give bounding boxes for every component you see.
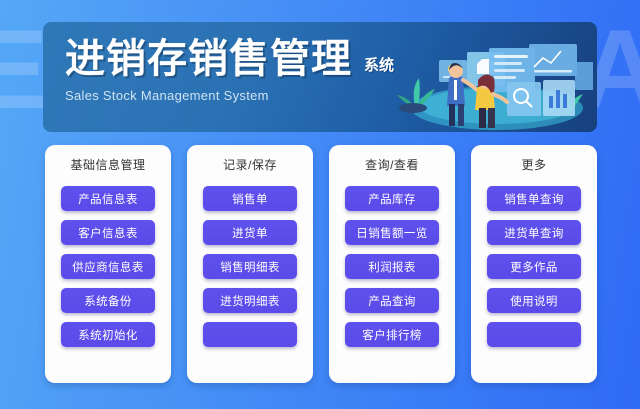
menu-button-more-works[interactable]: 更多作品	[487, 254, 581, 279]
card-title: 查询/查看	[365, 156, 419, 173]
menu-button-supplier-info[interactable]: 供应商信息表	[61, 254, 155, 279]
menu-button-instructions[interactable]: 使用说明	[487, 288, 581, 313]
menu-button-system-init[interactable]: 系统初始化	[61, 322, 155, 347]
menu-button-system-backup[interactable]: 系统备份	[61, 288, 155, 313]
menu-button-sales-order[interactable]: 销售单	[203, 186, 297, 211]
menu-card-grid: 基础信息管理 产品信息表 客户信息表 供应商信息表 系统备份 系统初始化 记录/…	[45, 145, 597, 383]
menu-button-product-info[interactable]: 产品信息表	[61, 186, 155, 211]
menu-button-sales-order-query[interactable]: 销售单查询	[487, 186, 581, 211]
page-title-suffix: 系统	[364, 54, 394, 80]
header-illustration	[393, 22, 593, 132]
menu-button-purchase-order[interactable]: 进货单	[203, 220, 297, 245]
menu-button-empty-record[interactable]	[203, 322, 297, 347]
card-basic-info: 基础信息管理 产品信息表 客户信息表 供应商信息表 系统备份 系统初始化	[45, 145, 171, 383]
header-banner: 进销存销售管理 系统 Sales Stock Management System	[43, 22, 597, 132]
menu-button-purchase-detail[interactable]: 进货明细表	[203, 288, 297, 313]
card-query-view: 查询/查看 产品库存 日销售额一览 利润报表 产品查询 客户排行榜	[329, 145, 455, 383]
card-title: 记录/保存	[223, 156, 277, 173]
menu-button-customer-info[interactable]: 客户信息表	[61, 220, 155, 245]
menu-button-purchase-order-query[interactable]: 进货单查询	[487, 220, 581, 245]
card-more: 更多 销售单查询 进货单查询 更多作品 使用说明	[471, 145, 597, 383]
card-title: 基础信息管理	[70, 156, 145, 173]
header-text-block: 进销存销售管理 系统 Sales Stock Management System	[65, 38, 394, 103]
page-title: 进销存销售管理	[65, 38, 352, 80]
page-subtitle: Sales Stock Management System	[65, 88, 394, 103]
menu-button-product-stock[interactable]: 产品库存	[345, 186, 439, 211]
menu-button-empty-more[interactable]	[487, 322, 581, 347]
menu-button-product-query[interactable]: 产品查询	[345, 288, 439, 313]
menu-button-customer-ranking[interactable]: 客户排行榜	[345, 322, 439, 347]
card-title: 更多	[521, 156, 546, 173]
card-record-save: 记录/保存 销售单 进货单 销售明细表 进货明细表	[187, 145, 313, 383]
menu-button-daily-sales[interactable]: 日销售额一览	[345, 220, 439, 245]
menu-button-sales-detail[interactable]: 销售明细表	[203, 254, 297, 279]
menu-button-profit-report[interactable]: 利润报表	[345, 254, 439, 279]
